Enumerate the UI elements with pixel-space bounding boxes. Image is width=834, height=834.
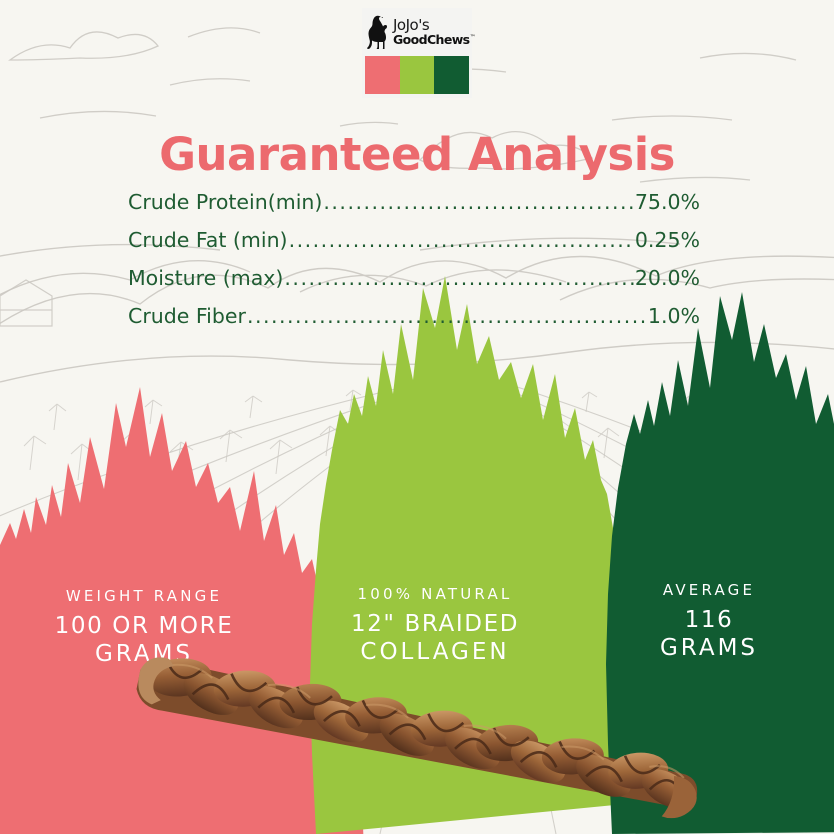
- swatch-lime: [400, 56, 435, 94]
- analysis-value: 20.0%: [635, 266, 700, 290]
- analysis-label: Crude Protein(min): [128, 190, 322, 214]
- logo-color-swatches: [365, 56, 469, 94]
- product-infographic: JoJo's GoodChews™ Guaranteed Analysis Cr…: [0, 0, 834, 834]
- analysis-value: 0.25%: [635, 228, 700, 252]
- caption-line2: GRAMS: [594, 634, 824, 663]
- panel-lime-shape: [310, 276, 625, 834]
- panel-caption-weight: WEIGHT RANGE 100 OR MORE GRAMS: [14, 588, 274, 669]
- analysis-value: 1.0%: [648, 304, 700, 328]
- logo-secondary-text: GoodChews™: [393, 34, 475, 47]
- logo-primary-text: JoJo's: [393, 18, 475, 33]
- page-title: Guaranteed Analysis: [0, 128, 834, 181]
- dog-silhouette-icon: [366, 15, 391, 49]
- analysis-value: 75.0%: [635, 190, 700, 214]
- guaranteed-analysis-list: Crude Protein(min) .....................…: [128, 190, 700, 342]
- trademark-symbol: ™: [470, 34, 475, 41]
- analysis-leader: ........................................…: [289, 230, 634, 251]
- swatch-forest: [434, 56, 469, 94]
- analysis-leader: ........................................…: [323, 192, 633, 213]
- caption-line2: GRAMS: [14, 640, 274, 669]
- panel-caption-natural: 100% NATURAL 12" BRAIDED COLLAGEN: [300, 586, 570, 667]
- swatch-coral: [365, 56, 400, 94]
- caption-line1: 12" BRAIDED: [300, 610, 570, 639]
- analysis-row: Crude Fiber ............................…: [128, 304, 700, 342]
- analysis-row: Crude Protein(min) .....................…: [128, 190, 700, 228]
- caption-line2: COLLAGEN: [300, 638, 570, 667]
- logo-wordmark: JoJo's GoodChews™: [362, 8, 472, 56]
- analysis-leader: ........................................…: [284, 268, 633, 289]
- analysis-label: Moisture (max): [128, 266, 283, 290]
- analysis-label: Crude Fiber: [128, 304, 246, 328]
- paint-panels: [0, 0, 834, 834]
- analysis-row: Moisture (max) .........................…: [128, 266, 700, 304]
- caption-line1: 116: [594, 606, 824, 635]
- analysis-label: Crude Fat (min): [128, 228, 288, 252]
- logo-goodchews-text: GoodChews: [393, 32, 470, 47]
- panel-caption-average: AVERAGE 116 GRAMS: [594, 582, 824, 663]
- caption-eyebrow: AVERAGE: [594, 582, 824, 599]
- caption-line1: 100 OR MORE: [14, 612, 274, 641]
- panel-forest-shape: [606, 292, 834, 834]
- brand-logo: JoJo's GoodChews™: [362, 8, 472, 98]
- analysis-leader: ........................................…: [247, 306, 647, 327]
- analysis-row: Crude Fat (min) ........................…: [128, 228, 700, 266]
- caption-eyebrow: 100% NATURAL: [300, 586, 570, 603]
- caption-eyebrow: WEIGHT RANGE: [14, 588, 274, 605]
